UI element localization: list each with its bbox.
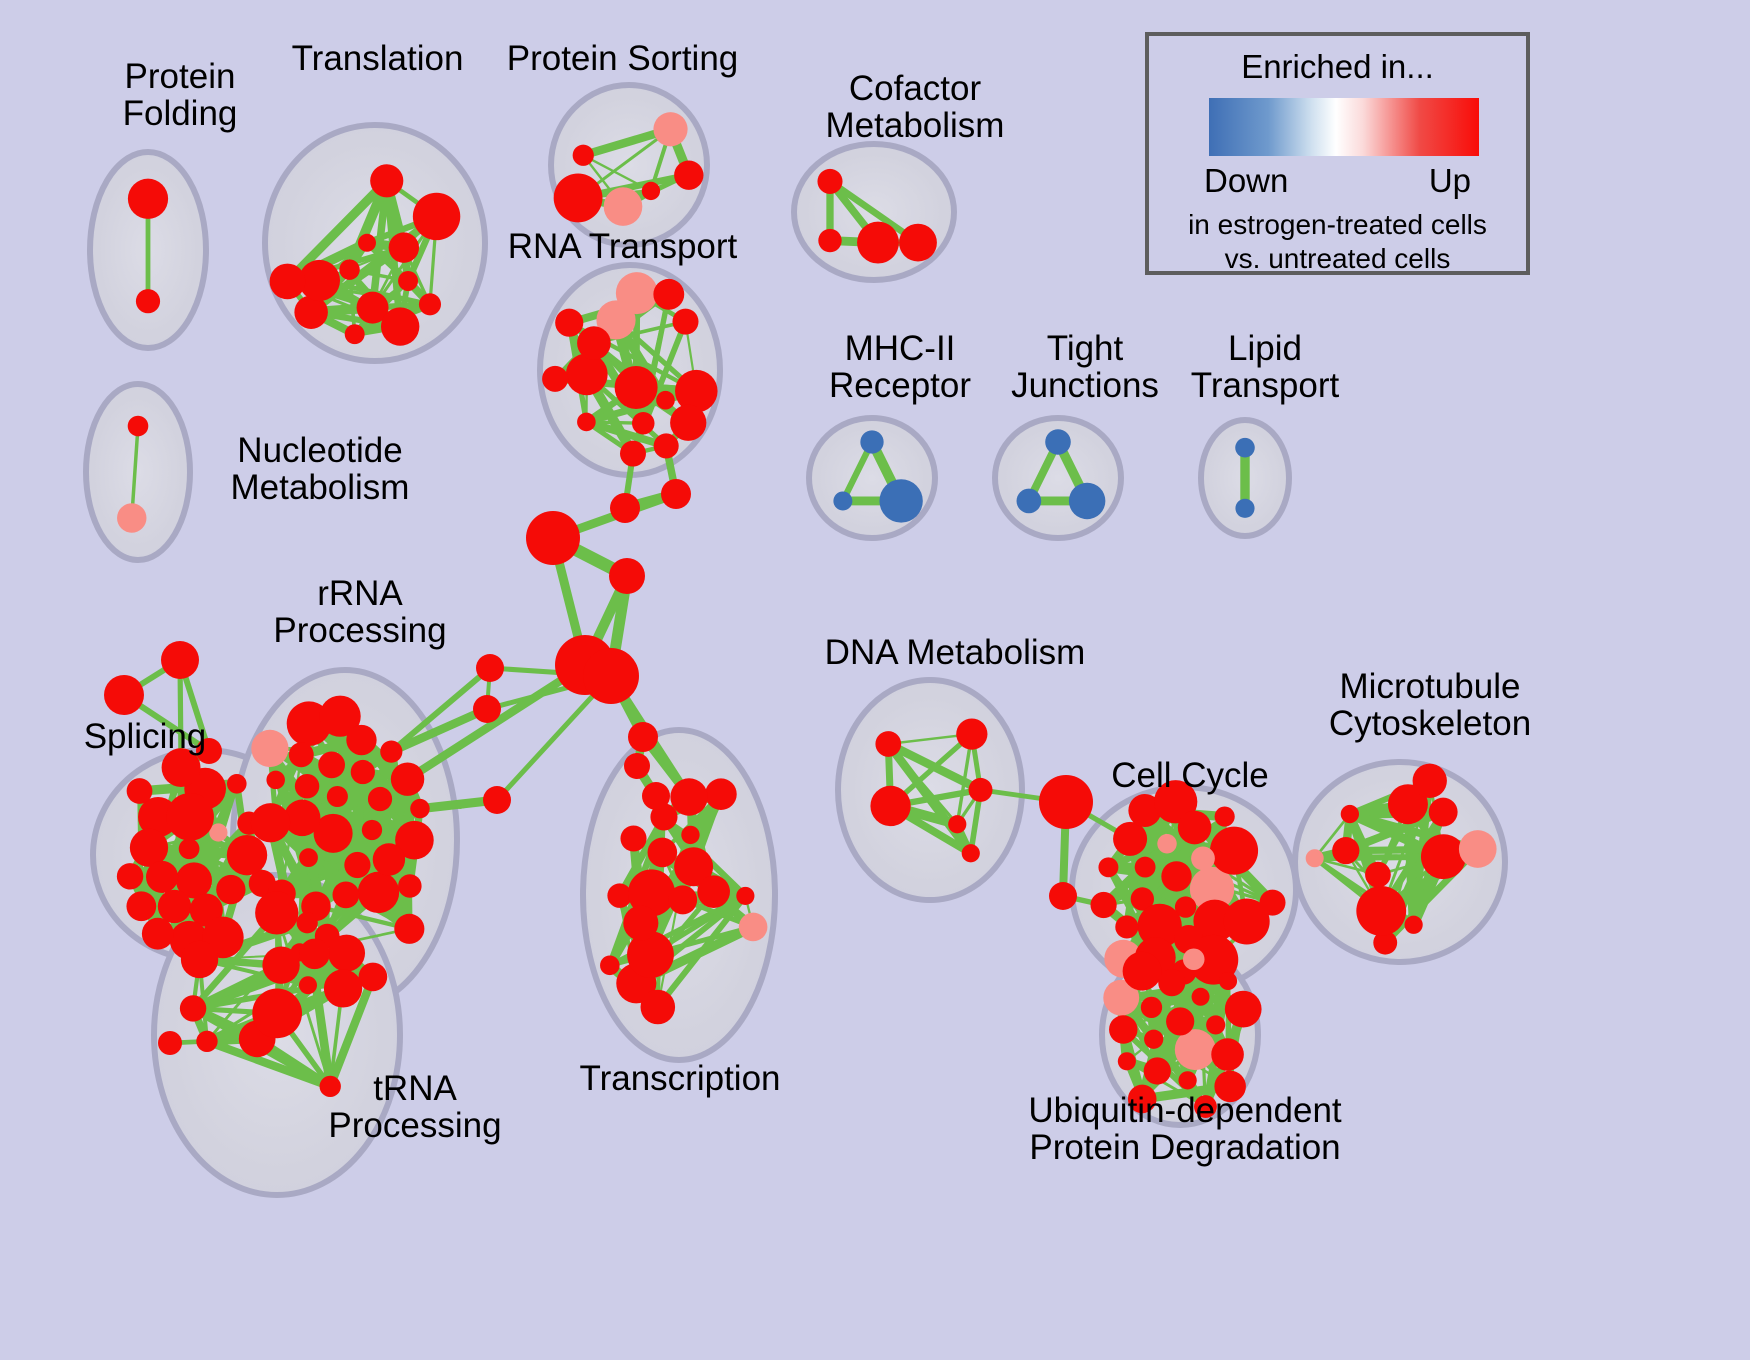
network-node (297, 912, 318, 933)
network-node (577, 326, 611, 360)
network-node (196, 1031, 217, 1052)
cluster-label-ubiquitin: Ubiquitin-dependent Protein Degradation (975, 1092, 1395, 1167)
network-node (483, 786, 511, 814)
network-node (179, 838, 200, 859)
network-node (609, 558, 645, 594)
cluster-label-translation: Translation (270, 40, 485, 77)
network-node (615, 366, 658, 409)
network-node (668, 885, 697, 914)
network-node (1098, 857, 1118, 877)
network-node (642, 182, 660, 200)
cluster-label-mhc-ii-receptor: MHC-II Receptor (800, 330, 1000, 405)
network-node (158, 1031, 182, 1055)
network-node (389, 232, 419, 262)
network-node (656, 391, 675, 410)
cluster-label-microtubule: Microtubule Cytoskeleton (1290, 668, 1570, 743)
network-node (398, 271, 418, 291)
network-node (654, 433, 679, 458)
network-node (1144, 1057, 1171, 1084)
network-node (542, 366, 568, 392)
network-node (1157, 834, 1176, 853)
network-node (373, 843, 405, 875)
cluster-label-dna-metabolism: DNA Metabolism (810, 634, 1100, 671)
network-node (128, 179, 168, 219)
network-node (857, 222, 899, 264)
network-node (624, 753, 650, 779)
legend-title: Enriched in... (1149, 48, 1526, 86)
network-node (1017, 489, 1042, 514)
network-node (332, 881, 359, 908)
network-node (648, 838, 678, 868)
network-node (1224, 899, 1270, 945)
network-node (969, 778, 993, 802)
network-node (328, 935, 365, 972)
network-node (391, 762, 424, 795)
network-node (674, 160, 703, 189)
network-node (1306, 849, 1324, 867)
network-node (104, 675, 144, 715)
network-node (670, 405, 706, 441)
network-node (566, 353, 608, 395)
network-node (736, 887, 754, 905)
network-node (1215, 807, 1235, 827)
network-node (1365, 862, 1391, 888)
network-node (127, 778, 153, 804)
network-node (1225, 991, 1262, 1028)
network-node (270, 264, 306, 300)
network-node (344, 852, 370, 878)
network-node (948, 815, 966, 833)
network-node (345, 324, 365, 344)
network-node (413, 193, 460, 240)
network-node (956, 718, 987, 749)
network-node (555, 309, 583, 337)
network-node (476, 654, 504, 682)
network-node (583, 648, 639, 704)
network-node (1332, 837, 1359, 864)
network-node (1178, 811, 1212, 845)
network-node (358, 872, 399, 913)
network-node (128, 416, 149, 437)
network-node (351, 760, 375, 784)
network-node (126, 891, 156, 921)
cluster-label-lipid-transport: Lipid Transport (1165, 330, 1365, 405)
network-node (1166, 1007, 1194, 1035)
network-node (299, 939, 329, 969)
network-node (661, 479, 691, 509)
network-node (1069, 483, 1105, 519)
network-node (216, 875, 245, 904)
network-node (1141, 997, 1162, 1018)
network-node (359, 963, 388, 992)
network-node (833, 491, 852, 510)
network-node (554, 174, 603, 223)
network-node (1144, 1030, 1163, 1049)
network-node (1429, 798, 1458, 827)
network-node (136, 289, 160, 313)
network-node (252, 988, 302, 1038)
network-node (142, 918, 174, 950)
network-node (577, 413, 596, 432)
network-node (1045, 429, 1071, 455)
legend-up-label: Up (1429, 162, 1471, 200)
network-node (860, 430, 883, 453)
network-node (473, 695, 501, 723)
network-node (1135, 857, 1156, 878)
cluster-label-rna-transport: RNA Transport (495, 228, 750, 265)
network-node (818, 229, 841, 252)
network-node (370, 164, 403, 197)
network-node (324, 969, 362, 1007)
network-node (158, 890, 191, 923)
network-node (1161, 861, 1191, 891)
network-node (1183, 948, 1205, 970)
network-node (672, 309, 698, 335)
network-node (653, 112, 687, 146)
network-node (1210, 827, 1258, 875)
network-node (227, 835, 267, 875)
network-node (573, 145, 594, 166)
network-node (875, 731, 901, 757)
network-node (1219, 972, 1237, 990)
legend-subtitle: in estrogen-treated cells vs. untreated … (1149, 208, 1526, 275)
network-node (604, 187, 643, 226)
network-node (1413, 764, 1447, 798)
network-node (739, 913, 768, 942)
network-node (1191, 847, 1215, 871)
network-node (632, 412, 655, 435)
network-node (1158, 969, 1185, 996)
network-node (227, 774, 247, 794)
network-node (161, 641, 199, 679)
network-node (394, 914, 424, 944)
network-node (697, 875, 730, 908)
cluster-label-nucleotide-metabolism: Nucleotide Metabolism (195, 432, 445, 507)
network-node (346, 725, 376, 755)
network-node (166, 793, 214, 841)
network-node (1109, 1015, 1137, 1043)
network-node (620, 441, 646, 467)
network-node (358, 234, 376, 252)
network-node (380, 741, 402, 763)
network-node (327, 786, 348, 807)
network-node (251, 803, 290, 842)
network-node (398, 874, 422, 898)
network-node (362, 820, 382, 840)
cluster-label-protein-sorting: Protein Sorting (495, 40, 750, 77)
cluster-label-cofactor-metabolism: Cofactor Metabolism (790, 70, 1040, 145)
network-node (620, 825, 646, 851)
network-node (1211, 1038, 1244, 1071)
network-node (526, 511, 580, 565)
network-node (1123, 952, 1162, 991)
network-node (870, 786, 910, 826)
legend-box: Enriched in... Down Up in estrogen-treat… (1145, 32, 1530, 275)
network-node (419, 293, 441, 315)
network-node (295, 774, 319, 798)
network-node (1090, 892, 1116, 918)
network-node (817, 169, 842, 194)
cluster-ellipse-nucleotide-metabolism (86, 384, 190, 560)
network-node (962, 844, 980, 862)
network-node (255, 891, 298, 934)
network-node (1459, 830, 1497, 868)
network-node (299, 848, 318, 867)
cluster-label-rrna-processing: rRNA Processing (245, 575, 475, 650)
network-node (339, 259, 359, 279)
network-node (266, 771, 285, 790)
network-node (1049, 882, 1077, 910)
cluster-label-cell-cycle: Cell Cycle (1090, 757, 1290, 794)
network-node (381, 307, 419, 345)
network-node (318, 752, 345, 779)
network-node (600, 956, 620, 976)
network-node (262, 946, 299, 983)
network-node (670, 778, 707, 815)
cluster-label-tight-junctions: Tight Junctions (985, 330, 1185, 405)
cluster-label-protein-folding: Protein Folding (80, 58, 280, 133)
cluster-label-trna-processing: tRNA Processing (300, 1070, 530, 1145)
network-node (181, 941, 218, 978)
network-node (1235, 499, 1254, 518)
network-node (641, 990, 676, 1025)
network-node (1192, 988, 1210, 1006)
cluster-label-transcription: Transcription (565, 1060, 795, 1097)
network-node (1178, 1071, 1196, 1089)
network-node (1115, 915, 1138, 938)
network-node (410, 799, 429, 818)
network-node (1235, 438, 1255, 458)
network-node (1118, 1052, 1136, 1070)
network-node (623, 906, 658, 941)
network-node (653, 279, 684, 310)
network-node (1356, 886, 1406, 936)
network-node (628, 722, 658, 752)
network-node (289, 742, 314, 767)
network-node (1039, 775, 1093, 829)
network-node (1405, 916, 1423, 934)
network-node (610, 493, 640, 523)
cluster-label-splicing: Splicing (60, 718, 230, 755)
network-node (1341, 805, 1359, 823)
legend-down-label: Down (1204, 162, 1288, 200)
legend-color-bar (1209, 98, 1479, 156)
network-node (251, 730, 288, 767)
network-node (879, 479, 922, 522)
network-node (146, 861, 178, 893)
network-node (368, 787, 392, 811)
network-node (117, 503, 146, 532)
network-node (1206, 1015, 1225, 1034)
network-edge (408, 665, 585, 779)
enrichment-map-figure: Protein Folding Translation Protein Sort… (0, 0, 1750, 1360)
network-node (681, 826, 699, 844)
network-node (705, 778, 737, 810)
network-node (642, 782, 670, 810)
network-node (1421, 834, 1466, 879)
network-node (299, 976, 317, 994)
network-node (180, 995, 206, 1021)
network-node (1113, 822, 1147, 856)
network-node (117, 863, 143, 889)
network-node (899, 224, 937, 262)
